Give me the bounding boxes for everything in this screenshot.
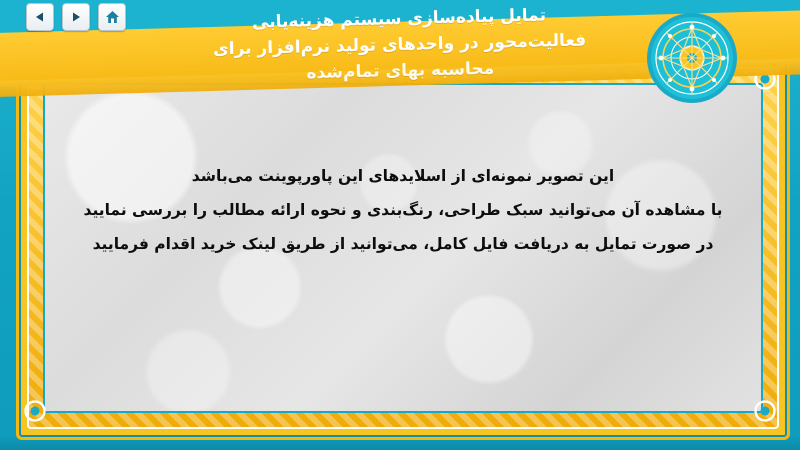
slide-stage: تمایل پیاده‌سازی سیستم هزینه‌یابی فعالیت… — [0, 0, 800, 450]
content-frame: این تصویر نمونه‌ای از اسلایدهای این پاور… — [16, 56, 790, 440]
back-button[interactable] — [26, 3, 54, 31]
forward-button[interactable] — [62, 3, 90, 31]
frame-corner-top-left — [18, 62, 52, 96]
triangle-left-icon — [34, 11, 46, 23]
content-panel: این تصویر نمونه‌ای از اسلایدهای این پاور… — [43, 83, 763, 413]
slide-body-line-2: با مشاهده آن می‌توانید سبک طراحی، رنگ‌بن… — [71, 193, 735, 227]
frame-corner-top-right — [748, 62, 782, 96]
slide-body-line-1: این تصویر نمونه‌ای از اسلایدهای این پاور… — [71, 159, 735, 193]
home-button[interactable] — [98, 3, 126, 31]
rosette-ornament-icon — [646, 12, 738, 104]
triangle-right-icon — [70, 11, 82, 23]
header-title-line-1: تمایل پیاده‌سازی سیستم هزینه‌یابی — [252, 2, 547, 35]
home-icon — [105, 10, 120, 24]
frame-corner-bottom-right — [748, 394, 782, 428]
content-frame-pattern: این تصویر نمونه‌ای از اسلایدهای این پاور… — [27, 67, 779, 429]
frame-corner-bottom-left — [18, 394, 52, 428]
slide-body-line-3: در صورت تمایل به دریافت فایل کامل، می‌تو… — [71, 227, 735, 261]
slide-body-text: این تصویر نمونه‌ای از اسلایدهای این پاور… — [45, 159, 761, 261]
navigation-bar — [0, 0, 176, 34]
